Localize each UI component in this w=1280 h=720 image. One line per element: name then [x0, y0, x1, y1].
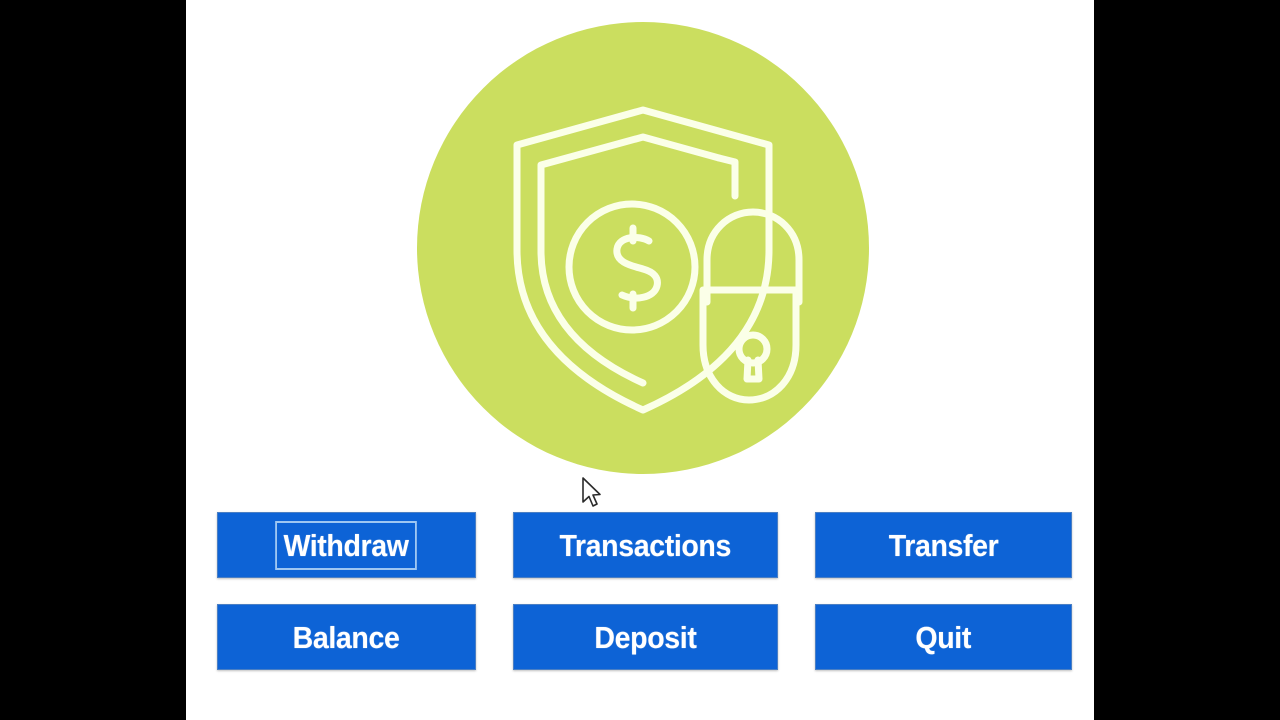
letterbox-bar-left [0, 0, 185, 720]
transfer-button[interactable]: Transfer [815, 512, 1072, 578]
letterbox-bar-right [1095, 0, 1280, 720]
withdraw-button[interactable]: Withdraw [217, 512, 476, 578]
transfer-button-label: Transfer [889, 530, 999, 561]
balance-button[interactable]: Balance [217, 604, 476, 670]
quit-button[interactable]: Quit [815, 604, 1072, 670]
transactions-button[interactable]: Transactions [513, 512, 778, 578]
logo-area [186, 0, 1094, 480]
shield-lock-icon [417, 22, 869, 474]
balance-button-label: Balance [293, 622, 400, 653]
deposit-button[interactable]: Deposit [513, 604, 778, 670]
deposit-button-label: Deposit [594, 622, 696, 653]
app-window: Withdraw Transactions Transfer Balance D… [0, 0, 1280, 720]
withdraw-button-label: Withdraw [284, 530, 409, 561]
quit-button-label: Quit [916, 622, 972, 653]
app-canvas: Withdraw Transactions Transfer Balance D… [186, 0, 1094, 720]
arrow-cursor [581, 477, 603, 511]
button-grid: Withdraw Transactions Transfer Balance D… [217, 512, 1072, 670]
transactions-button-label: Transactions [560, 530, 732, 561]
